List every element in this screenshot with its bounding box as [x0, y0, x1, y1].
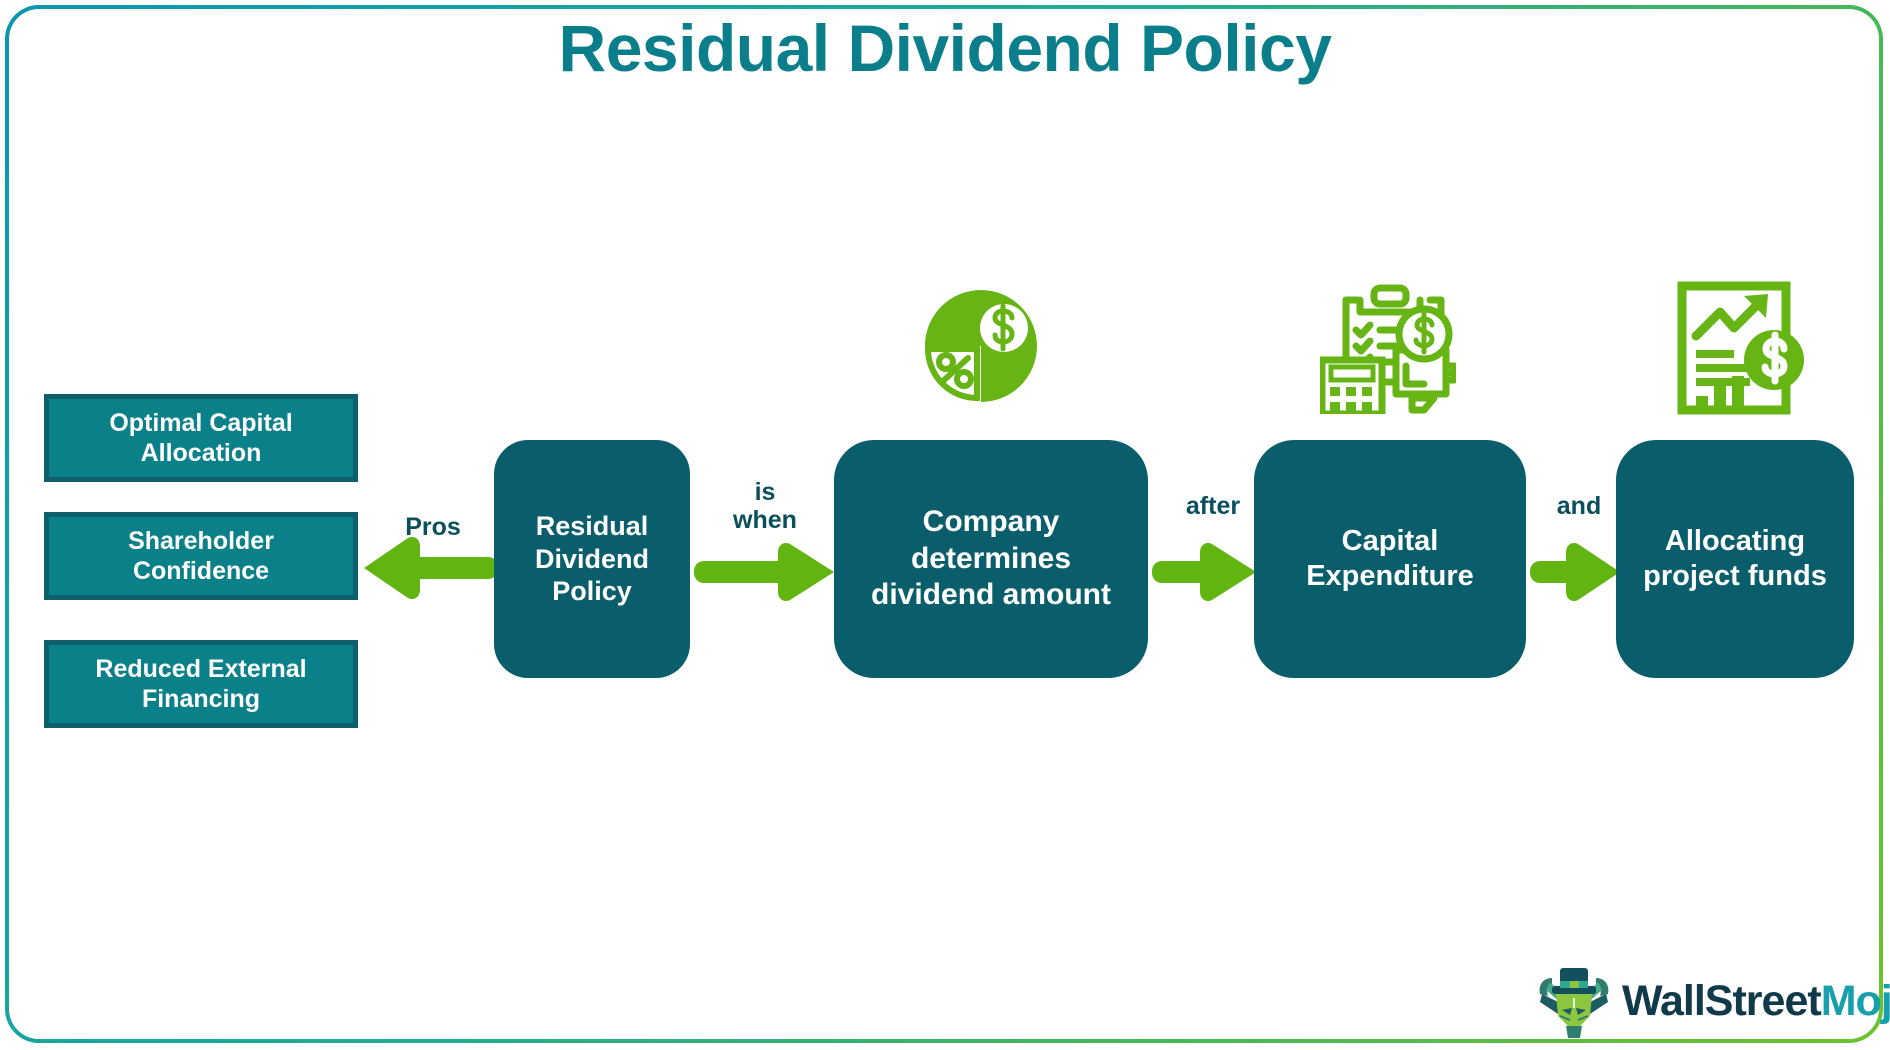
arrow-right-and [1530, 542, 1622, 602]
pro-box-label: Shareholder Confidence [57, 526, 345, 586]
pro-box-optimal-capital-allocation: Optimal Capital Allocation [44, 394, 358, 482]
flow-box-label: Residual Dividend Policy [508, 510, 676, 609]
logo-wordmark: WallStreetMojo [1622, 977, 1890, 1026]
connector-label-and: and [1534, 492, 1624, 520]
pro-box-reduced-external-financing: Reduced External Financing [44, 640, 358, 728]
connector-label-is-when: is when [710, 478, 820, 534]
clipboard-calculator-wallet-icon [1320, 282, 1456, 419]
flow-box-allocating-project-funds: Allocating project funds [1616, 440, 1854, 678]
flow-box-label: Company determines dividend amount [848, 504, 1134, 614]
report-growth-dollar-icon [1676, 280, 1808, 421]
flow-box-residual-dividend-policy: Residual Dividend Policy [494, 440, 690, 678]
pro-box-shareholder-confidence: Shareholder Confidence [44, 512, 358, 600]
pie-chart-dollar-icon [916, 282, 1046, 415]
connector-label-after: after [1158, 492, 1268, 520]
arrow-right-is-when [694, 542, 836, 602]
pro-box-label: Optimal Capital Allocation [57, 408, 345, 468]
flow-box-company-determines-dividend-amount: Company determines dividend amount [834, 440, 1148, 678]
infographic-canvas: Residual Dividend Policy Optimal Capital… [0, 0, 1890, 1050]
flow-box-capital-expenditure: Capital Expenditure [1254, 440, 1526, 678]
flow-box-label: Capital Expenditure [1268, 524, 1512, 595]
connector-label-pros: Pros [388, 513, 478, 541]
arrow-right-after [1152, 542, 1258, 602]
leprechaun-bull-mascot-icon [1536, 964, 1612, 1038]
logo-text-mojo: Mojo [1821, 977, 1890, 1025]
wallstreetmojo-logo[interactable]: WallStreetMojo [1536, 962, 1890, 1040]
logo-text-wallstreet: WallStreet [1622, 977, 1821, 1025]
page-title: Residual Dividend Policy [0, 8, 1890, 88]
flow-box-label: Allocating project funds [1630, 524, 1840, 595]
arrow-left-pros [362, 536, 498, 600]
pro-box-label: Reduced External Financing [57, 654, 345, 714]
